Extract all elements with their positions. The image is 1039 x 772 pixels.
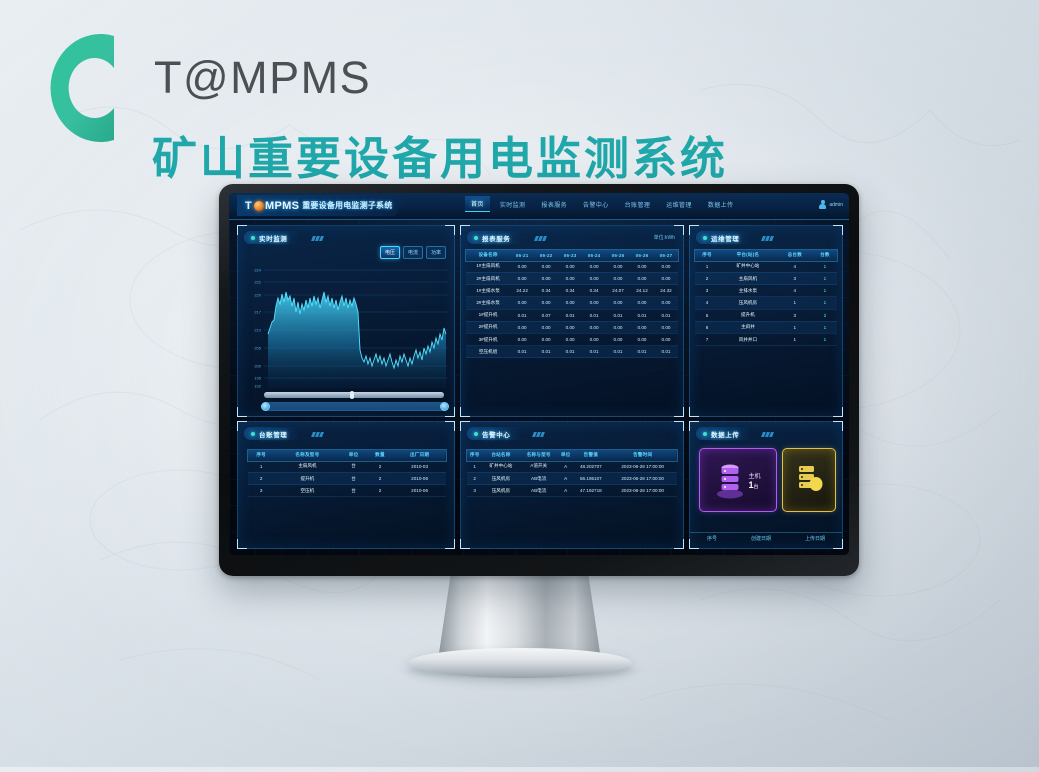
upload-card-secondary[interactable] (782, 448, 836, 512)
table-cell: 2023-06-28 17:00:00 (608, 472, 677, 484)
main-nav[interactable]: 首页 实时监测 报表服务 告警中心 台账管理 运维管理 数据上传 (465, 196, 739, 212)
table-cell: A (558, 485, 573, 497)
table-cell: 1 (813, 285, 837, 297)
table-cell: 3#提升机 (466, 333, 510, 345)
table-cell: 0.00 (534, 333, 558, 345)
report-table[interactable]: 设备名称 06-21 06-22 06-23 06-24 06-25 06-26… (466, 250, 678, 358)
table-cell: 2 (367, 472, 393, 484)
table-cell: 1 (813, 261, 837, 273)
panel-ops-title-text: 运维管理 (711, 233, 739, 243)
chart-handle-right[interactable] (440, 402, 449, 411)
table-row[interactable]: 2压风机房AB电流A56.1951072023-06-28 17:00:00 (467, 472, 677, 484)
chart-range-slider[interactable] (264, 392, 444, 398)
chart-timeline-selection (265, 403, 445, 410)
page-subtitle: 矿山重要设备用电监测系统 (152, 122, 728, 187)
table-cell: 空压机 (274, 485, 340, 497)
table-cell: 2010-06 (393, 472, 446, 484)
table-cell: 0.00 (558, 297, 582, 309)
col-index: 序号 (695, 250, 719, 261)
table-cell: 1#主排水泵 (466, 285, 510, 297)
panel-ledger-title-text: 台账管理 (259, 429, 287, 439)
table-cell: 0.00 (606, 333, 630, 345)
table-cell: 56.195107 (573, 472, 608, 484)
table-cell: 1 (248, 461, 274, 473)
nav-item-report[interactable]: 报表服务 (535, 197, 573, 212)
chart-timeline-track[interactable] (264, 402, 446, 411)
svg-text:222: 222 (254, 280, 261, 285)
panel-bullet-icon (474, 236, 478, 240)
user-area[interactable]: admin (819, 200, 843, 209)
svg-text:210: 210 (254, 328, 261, 333)
table-cell: 0.00 (630, 321, 654, 333)
table-cell: 2 (367, 485, 393, 497)
table-cell: 0.00 (558, 333, 582, 345)
table-row[interactable]: 2提升机台22010-06 (248, 472, 446, 484)
table-cell: 3 (777, 309, 813, 321)
table-cell: 台 (340, 472, 366, 484)
table-cell: 矿井中心站 (719, 261, 777, 273)
panel-data-upload: 数据上传 主机 1台 (689, 421, 843, 549)
table-cell: 0.07 (534, 309, 558, 321)
table-row[interactable]: 2主扇风机31 (695, 272, 837, 284)
table-row[interactable]: 2#主排水泵0.000.000.000.000.000.000.00 (466, 297, 678, 309)
col-name-model: 名称与型号 (519, 450, 558, 461)
panel-corner-bl (689, 407, 699, 417)
table-cell: AB电流 (519, 485, 558, 497)
panel-ledger-title: 台账管理 (244, 427, 299, 440)
table-cell: 0.00 (654, 297, 678, 309)
table-cell: 4 (777, 285, 813, 297)
panel-realtime-title-text: 实时监测 (259, 233, 287, 243)
table-cell: 0.00 (606, 297, 630, 309)
col-alarm-time: 告警时间 (608, 450, 677, 461)
table-cell: 2#主扇风机 (466, 272, 510, 284)
table-cell: A值开关 (519, 461, 558, 473)
logo-text-cn: 重要设备用电监测子系统 (302, 200, 392, 211)
table-cell: 0.00 (630, 333, 654, 345)
table-cell: 6 (695, 321, 719, 333)
upload-host-unit: 台 (754, 484, 759, 490)
panel-bullet-icon (251, 236, 255, 240)
table-cell: 3 (777, 272, 813, 284)
panel-corner-bl (460, 539, 470, 549)
col-0624: 06-24 (582, 250, 606, 261)
col-0626: 06-26 (630, 250, 654, 261)
table-cell: 0.00 (558, 321, 582, 333)
table-cell: 1 (777, 297, 813, 309)
table-cell: 2 (367, 461, 393, 473)
table-row[interactable]: 3压风机房AB电流A47.1927182023-06-28 17:00:00 (467, 485, 677, 497)
table-cell: 2 (467, 472, 482, 484)
decor-slashes (535, 236, 546, 241)
table-cell: 24.07 (606, 285, 630, 297)
table-cell: 1 (813, 333, 837, 345)
alarm-table[interactable]: 序号 台站名称 名称与型号 单位 告警值 告警时间 1矿井中心站A值开关A48.… (467, 450, 677, 497)
table-cell: 0.01 (630, 309, 654, 321)
table-cell: 台 (340, 485, 366, 497)
table-cell: 48.202707 (573, 461, 608, 473)
table-row[interactable]: 1主扇风机台22010-03 (248, 461, 446, 473)
table-cell: A (558, 461, 573, 473)
table-cell: 0.01 (582, 346, 606, 358)
nav-item-ledger[interactable]: 台账管理 (619, 197, 657, 212)
col-index: 序号 (248, 450, 274, 461)
panel-report-title: 报表服务 (467, 231, 522, 244)
table-cell: 1 (813, 297, 837, 309)
table-cell: 24.12 (630, 285, 654, 297)
panel-corner-tr (833, 421, 843, 431)
col-station: 平台(站)名 (719, 250, 777, 261)
c-mark-logo (46, 30, 120, 146)
table-cell: 压风机房 (719, 297, 777, 309)
panel-bullet-icon (474, 432, 478, 436)
table-cell: 0.00 (582, 297, 606, 309)
table-cell: AB电流 (519, 472, 558, 484)
table-cell: 0.00 (654, 333, 678, 345)
table-cell: 1 (813, 272, 837, 284)
table-cell: 2 (695, 272, 719, 284)
upload-card-host[interactable]: 主机 1台 (699, 448, 777, 512)
panel-realtime-title: 实时监测 (244, 231, 299, 244)
col-unit: 单位 (340, 450, 366, 461)
table-cell: 0.00 (534, 321, 558, 333)
monitor-stand-base (408, 648, 632, 678)
table-cell: 压风机房 (482, 485, 519, 497)
user-name-label: admin (829, 202, 843, 208)
table-row[interactable]: 2#主扇风机0.000.000.000.000.000.000.00 (466, 272, 678, 284)
col-alarm-value: 告警值 (573, 450, 608, 461)
panel-corner-tr (674, 421, 684, 431)
col-unit: 单位 (558, 450, 573, 461)
table-cell: 0.00 (558, 272, 582, 284)
upload-footer-created: 创建日期 (751, 535, 771, 542)
monitor-bezel-chin (219, 556, 859, 576)
table-cell: 0.01 (630, 346, 654, 358)
panel-upload-title: 数据上传 (696, 427, 751, 440)
table-cell: 0.01 (510, 346, 534, 358)
svg-text:220: 220 (254, 293, 261, 298)
table-cell: 3 (695, 285, 719, 297)
table-cell: 主扇风机 (274, 461, 340, 473)
svg-text:205: 205 (254, 346, 261, 351)
col-device: 设备名称 (466, 250, 510, 261)
upload-footer: 序号 创建日期 上传日期 (690, 532, 842, 542)
table-cell: 0.00 (606, 261, 630, 273)
panel-corner-tr (674, 225, 684, 235)
table-header-row: 序号 名称及型号 单位 数量 出厂日期 (248, 450, 446, 461)
panel-alarm-title: 告警中心 (467, 427, 522, 440)
table-row[interactable]: 5提升机32 (695, 309, 837, 321)
table-cell: 1#主扇风机 (466, 261, 510, 273)
table-cell: 0.00 (582, 333, 606, 345)
nav-item-ops[interactable]: 运维管理 (660, 197, 698, 212)
col-0621: 06-21 (510, 250, 534, 261)
table-row[interactable]: 空压机组0.010.010.010.010.010.010.01 (466, 346, 678, 358)
table-cell: 1 (777, 321, 813, 333)
table-cell: 0.00 (510, 333, 534, 345)
metric-button-voltage[interactable]: 电压 (380, 246, 400, 259)
table-cell: 主排水泵 (719, 285, 777, 297)
table-row[interactable]: 1矿井中心站A值开关A48.2027072023-06-28 17:00:00 (467, 461, 677, 473)
table-cell: 2 (248, 472, 274, 484)
panel-corner-bl (237, 407, 247, 417)
monitor-frame: T MPMS 重要设备用电监测子系统 首页 实时监测 报表服务 告警中心 台账管… (219, 184, 859, 576)
svg-text:192: 192 (254, 384, 261, 389)
table-row[interactable]: 6主斜井11 (695, 321, 837, 333)
col-0627: 06-27 (654, 250, 678, 261)
nav-item-upload[interactable]: 数据上传 (702, 197, 740, 212)
table-cell: 主扇风机 (719, 272, 777, 284)
table-cell: 0.01 (558, 309, 582, 321)
table-cell: 1 (813, 321, 837, 333)
table-cell: 7 (695, 333, 719, 345)
dashboard-topbar: T MPMS 重要设备用电监测子系统 首页 实时监测 报表服务 告警中心 台账管… (229, 193, 849, 220)
table-row[interactable]: 3主排水泵41 (695, 285, 837, 297)
branding-block: T@MPMS 矿山重要设备用电监测系统 (46, 26, 766, 176)
upload-footer-index: 序号 (707, 535, 717, 542)
table-row[interactable]: 1#提升机0.010.070.010.010.010.010.01 (466, 309, 678, 321)
table-cell: 0.01 (654, 309, 678, 321)
panel-alarm-title-text: 告警中心 (482, 429, 510, 439)
table-cell: 2#主排水泵 (466, 297, 510, 309)
table-cell: 0.01 (558, 346, 582, 358)
decor-slashes (312, 236, 323, 241)
table-row[interactable]: 1#主排水泵24.220.340.340.3424.0724.1224.32 (466, 285, 678, 297)
logo-text-t: T (245, 200, 252, 212)
table-cell: 5 (695, 309, 719, 321)
metric-button-power[interactable]: 功率 (426, 246, 446, 259)
table-cell: 0.00 (510, 297, 534, 309)
logo-text-mpms: MPMS (265, 200, 299, 212)
table-cell: 2010-03 (393, 461, 446, 473)
table-cell: 0.34 (534, 285, 558, 297)
server-stack-purple-icon (715, 460, 745, 500)
table-cell: 0.34 (582, 285, 606, 297)
table-cell: 风井井口 (719, 333, 777, 345)
table-cell: 压风机房 (482, 472, 519, 484)
table-cell: 2010-06 (393, 485, 446, 497)
col-index: 序号 (467, 450, 482, 461)
panel-bullet-icon (703, 236, 707, 240)
table-cell: 0.00 (630, 272, 654, 284)
table-cell: 3 (467, 485, 482, 497)
table-row[interactable]: 4压风机房11 (695, 297, 837, 309)
panel-corner-tr (445, 421, 455, 431)
table-row[interactable]: 3#提升机0.000.000.000.000.000.000.00 (466, 333, 678, 345)
table-cell: 0.01 (510, 309, 534, 321)
dashboard: T MPMS 重要设备用电监测子系统 首页 实时监测 报表服务 告警中心 台账管… (229, 193, 849, 555)
col-total: 总台数 (777, 250, 813, 261)
table-row[interactable]: 3空压机台22010-06 (248, 485, 446, 497)
table-cell: 0.00 (606, 321, 630, 333)
table-cell: 0.00 (654, 272, 678, 284)
panel-realtime-monitoring: 实时监测 电压 电流 功率 (237, 225, 455, 417)
table-cell: 2023-06-28 17:00:00 (608, 461, 677, 473)
monitor-stand-neck (438, 572, 601, 660)
decor-slashes (533, 432, 544, 437)
table-cell: 0.00 (582, 321, 606, 333)
table-cell: 2#提升机 (466, 321, 510, 333)
col-count: 台数 (813, 250, 837, 261)
at-globe-icon (254, 201, 264, 211)
panel-corner-tr (833, 225, 843, 235)
panel-upload-title-text: 数据上传 (711, 429, 739, 439)
table-cell: 提升机 (274, 472, 340, 484)
table-cell: 1 (777, 333, 813, 345)
decor-slashes (762, 432, 773, 437)
chart-range-slider-knob[interactable] (350, 391, 354, 399)
table-cell: 0.00 (582, 272, 606, 284)
table-cell: 24.32 (654, 285, 678, 297)
nav-item-realtime[interactable]: 实时监测 (494, 197, 532, 212)
panel-ops-management: 运维管理 序号 平台(站)名 总台数 台数 1矿井中心站412主扇风机313主排… (689, 225, 843, 417)
upload-card-host-text: 主机 1台 (748, 471, 760, 490)
table-cell: 0.00 (510, 261, 534, 273)
ledger-table[interactable]: 序号 名称及型号 单位 数量 出厂日期 1主扇风机台22010-032提升机台2… (248, 450, 446, 497)
table-cell: 1 (695, 261, 719, 273)
table-cell: 0.01 (582, 309, 606, 321)
panel-corner-bl (460, 407, 470, 417)
table-cell: 0.00 (606, 272, 630, 284)
table-cell: 0.01 (534, 346, 558, 358)
svg-text:200: 200 (254, 364, 261, 369)
table-cell: 矿井中心站 (482, 461, 519, 473)
table-cell: 0.34 (558, 285, 582, 297)
table-cell: 0.00 (534, 297, 558, 309)
table-cell: 24.22 (510, 285, 534, 297)
svg-text:195: 195 (254, 376, 261, 381)
table-cell: 47.192718 (573, 485, 608, 497)
table-cell: 4 (695, 297, 719, 309)
server-stack-yellow-icon (794, 460, 824, 500)
table-cell: 0.00 (510, 272, 534, 284)
panel-corner-tr (445, 225, 455, 235)
chart-range-slider-fill (264, 392, 444, 398)
col-0623: 06-23 (558, 250, 582, 261)
table-cell: 1#提升机 (466, 309, 510, 321)
table-cell: A (558, 472, 573, 484)
user-avatar-icon[interactable] (819, 200, 826, 209)
decor-slashes (312, 432, 323, 437)
nav-item-alarm[interactable]: 告警中心 (577, 197, 615, 212)
upload-host-label: 主机 (748, 471, 760, 480)
table-cell: 0.00 (534, 261, 558, 273)
table-cell: 0.00 (582, 261, 606, 273)
table-header-row: 序号 平台(站)名 总台数 台数 (695, 250, 837, 261)
table-row[interactable]: 1#主扇风机0.000.000.000.000.000.000.00 (466, 261, 678, 273)
table-cell: 0.00 (630, 297, 654, 309)
svg-text:217: 217 (254, 310, 261, 315)
nav-item-home[interactable]: 首页 (465, 196, 490, 212)
page-title: T@MPMS (154, 52, 371, 104)
table-cell: 0.00 (630, 261, 654, 273)
col-station: 台站名称 (482, 450, 519, 461)
panel-alarm-center: 告警中心 序号 台站名称 名称与型号 单位 告警值 告警时间 1矿井中心站A值开… (460, 421, 684, 549)
table-cell: 空压机组 (466, 346, 510, 358)
realtime-metric-buttons[interactable]: 电压 电流 功率 (380, 246, 446, 259)
panel-report-title-text: 报表服务 (482, 233, 510, 243)
col-qty: 数量 (367, 450, 393, 461)
upload-footer-uploaded: 上传日期 (805, 535, 825, 542)
panel-ops-title: 运维管理 (696, 231, 751, 244)
panel-ledger-management: 台账管理 序号 名称及型号 单位 数量 出厂日期 1主扇风机台22010-032… (237, 421, 455, 549)
table-cell: 0.00 (510, 321, 534, 333)
realtime-chart[interactable]: 224 222 220 217 210 205 200 195 192 (242, 262, 450, 400)
chart-handle-left[interactable] (261, 402, 270, 411)
table-header-row: 设备名称 06-21 06-22 06-23 06-24 06-25 06-26… (466, 250, 678, 261)
table-cell: 0.01 (606, 346, 630, 358)
table-cell: 3 (248, 485, 274, 497)
table-cell: 0.00 (654, 321, 678, 333)
col-0625: 06-25 (606, 250, 630, 261)
table-cell: 0.01 (606, 309, 630, 321)
table-row[interactable]: 7风井井口11 (695, 333, 837, 345)
table-cell: 2023-06-28 17:00:00 (608, 485, 677, 497)
table-cell: 0.01 (654, 346, 678, 358)
table-cell: 2 (813, 309, 837, 321)
col-name-model: 名称及型号 (274, 450, 340, 461)
metric-button-current[interactable]: 电流 (403, 246, 423, 259)
panel-bullet-icon (703, 432, 707, 436)
svg-text:224: 224 (254, 268, 261, 273)
panel-bullet-icon (251, 432, 255, 436)
ops-table[interactable]: 序号 平台(站)名 总台数 台数 1矿井中心站412主扇风机313主排水泵414… (695, 250, 837, 346)
table-row[interactable]: 2#提升机0.000.000.000.000.000.000.00 (466, 321, 678, 333)
report-unit-label: 单位:kWh (654, 234, 675, 241)
dashboard-logo: T MPMS 重要设备用电监测子系统 (237, 195, 408, 216)
table-cell: 4 (777, 261, 813, 273)
table-header-row: 序号 台站名称 名称与型号 单位 告警值 告警时间 (467, 450, 677, 461)
col-0622: 06-22 (534, 250, 558, 261)
table-cell: 提升机 (719, 309, 777, 321)
table-cell: 0.00 (558, 261, 582, 273)
decor-slashes (762, 236, 773, 241)
monitor-screen: T MPMS 重要设备用电监测子系统 首页 实时监测 报表服务 告警中心 台账管… (229, 193, 849, 555)
panel-report-service: 报表服务 单位:kWh 设备名称 06-21 06-22 06-23 06-24… (460, 225, 684, 417)
table-cell: 0.00 (654, 261, 678, 273)
col-mfg-date: 出厂日期 (393, 450, 446, 461)
table-cell: 0.00 (534, 272, 558, 284)
table-row[interactable]: 1矿井中心站41 (695, 261, 837, 273)
table-cell: 主斜井 (719, 321, 777, 333)
table-cell: 1 (467, 461, 482, 473)
panel-corner-bl (237, 539, 247, 549)
table-cell: 台 (340, 461, 366, 473)
